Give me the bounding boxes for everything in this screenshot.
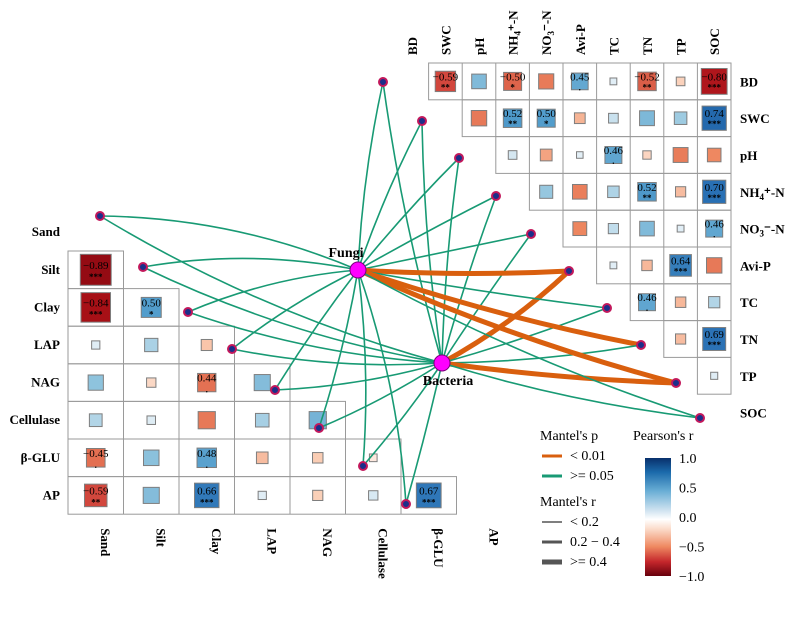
- left-matrix-row-label: Sand: [32, 224, 61, 239]
- right-matrix-col-label: TP: [674, 38, 689, 55]
- right-matrix-row-label: pH: [740, 148, 757, 163]
- right-matrix-col-label: pH: [472, 38, 487, 55]
- legend-label-mantel-p: < 0.01: [570, 449, 606, 464]
- right-matrix-row-label: TC: [740, 295, 758, 310]
- right-matrix-row-label: Avi-P: [740, 258, 771, 273]
- right-matrix-col-label: NH4⁺-N: [506, 10, 523, 55]
- legend-title-mantel-p: Mantel's p: [540, 429, 598, 444]
- colorbar: [645, 458, 671, 576]
- left-matrix-col-label: Sand: [98, 528, 113, 557]
- left-matrix-row-label: Clay: [34, 299, 61, 314]
- left-matrix-row-label: Silt: [41, 262, 60, 277]
- left-matrix-row-label: AP: [43, 487, 60, 502]
- colorbar-tick-label: −0.5: [679, 541, 704, 556]
- left-matrix-col-label: Clay: [209, 528, 224, 555]
- legend-label-mantel-r: >= 0.4: [570, 555, 607, 570]
- left-matrix-row-label: NAG: [31, 375, 60, 390]
- right-matrix-row-label: NO3⁻-N: [740, 222, 785, 239]
- left-matrix-col-label: β-GLU: [431, 528, 446, 568]
- colorbar-tick-label: 1.0: [679, 452, 697, 467]
- right-matrix-col-label: SWC: [438, 25, 453, 55]
- left-matrix-col-label: LAP: [264, 528, 279, 554]
- left-matrix-row-label: β-GLU: [21, 450, 61, 465]
- left-matrix-col-label: AP: [486, 528, 501, 545]
- right-matrix-col-label: NO3⁻-N: [539, 10, 556, 55]
- colorbar-tick-label: 0.5: [679, 482, 697, 497]
- left-matrix-row-label: Cellulase: [9, 412, 60, 427]
- left-matrix-col-label: Silt: [153, 528, 168, 547]
- legend-label-mantel-r: 0.2 − 0.4: [570, 535, 620, 550]
- right-matrix-row-label: TN: [740, 332, 759, 347]
- right-matrix-row-label: SOC: [740, 406, 767, 421]
- right-matrix-row-label: NH4⁺-N: [740, 185, 785, 202]
- figure-canvas: −0.89***−0.84***0.50*0.44.−0.45.0.48.−0.…: [0, 0, 800, 639]
- legend-title-mantel-r: Mantel's r: [540, 495, 596, 510]
- legend-label-mantel-r: < 0.2: [570, 515, 599, 530]
- colorbar-tick-label: −1.0: [679, 570, 704, 585]
- legend-label-mantel-p: >= 0.05: [570, 469, 614, 484]
- right-matrix-col-label: TN: [640, 36, 655, 55]
- left-matrix-col-label: Cellulase: [375, 528, 390, 579]
- colorbar-tick-label: 0.0: [679, 511, 697, 526]
- right-matrix-row-label: TP: [740, 369, 757, 384]
- right-matrix-col-label: BD: [405, 37, 420, 55]
- legend-title-pearson-r: Pearson's r: [633, 429, 694, 444]
- right-matrix-col-label: TC: [606, 37, 621, 55]
- right-matrix-row-label: SWC: [740, 111, 770, 126]
- right-matrix-row-label: BD: [740, 74, 758, 89]
- right-matrix-col-label: SOC: [707, 28, 722, 55]
- labels-legend-layer: SandSiltClayLAPNAGCellulaseβ-GLUAPSandSi…: [0, 0, 800, 639]
- right-matrix-col-label: Avi-P: [573, 24, 588, 55]
- left-matrix-row-label: LAP: [34, 337, 60, 352]
- left-matrix-col-label: NAG: [320, 528, 335, 557]
